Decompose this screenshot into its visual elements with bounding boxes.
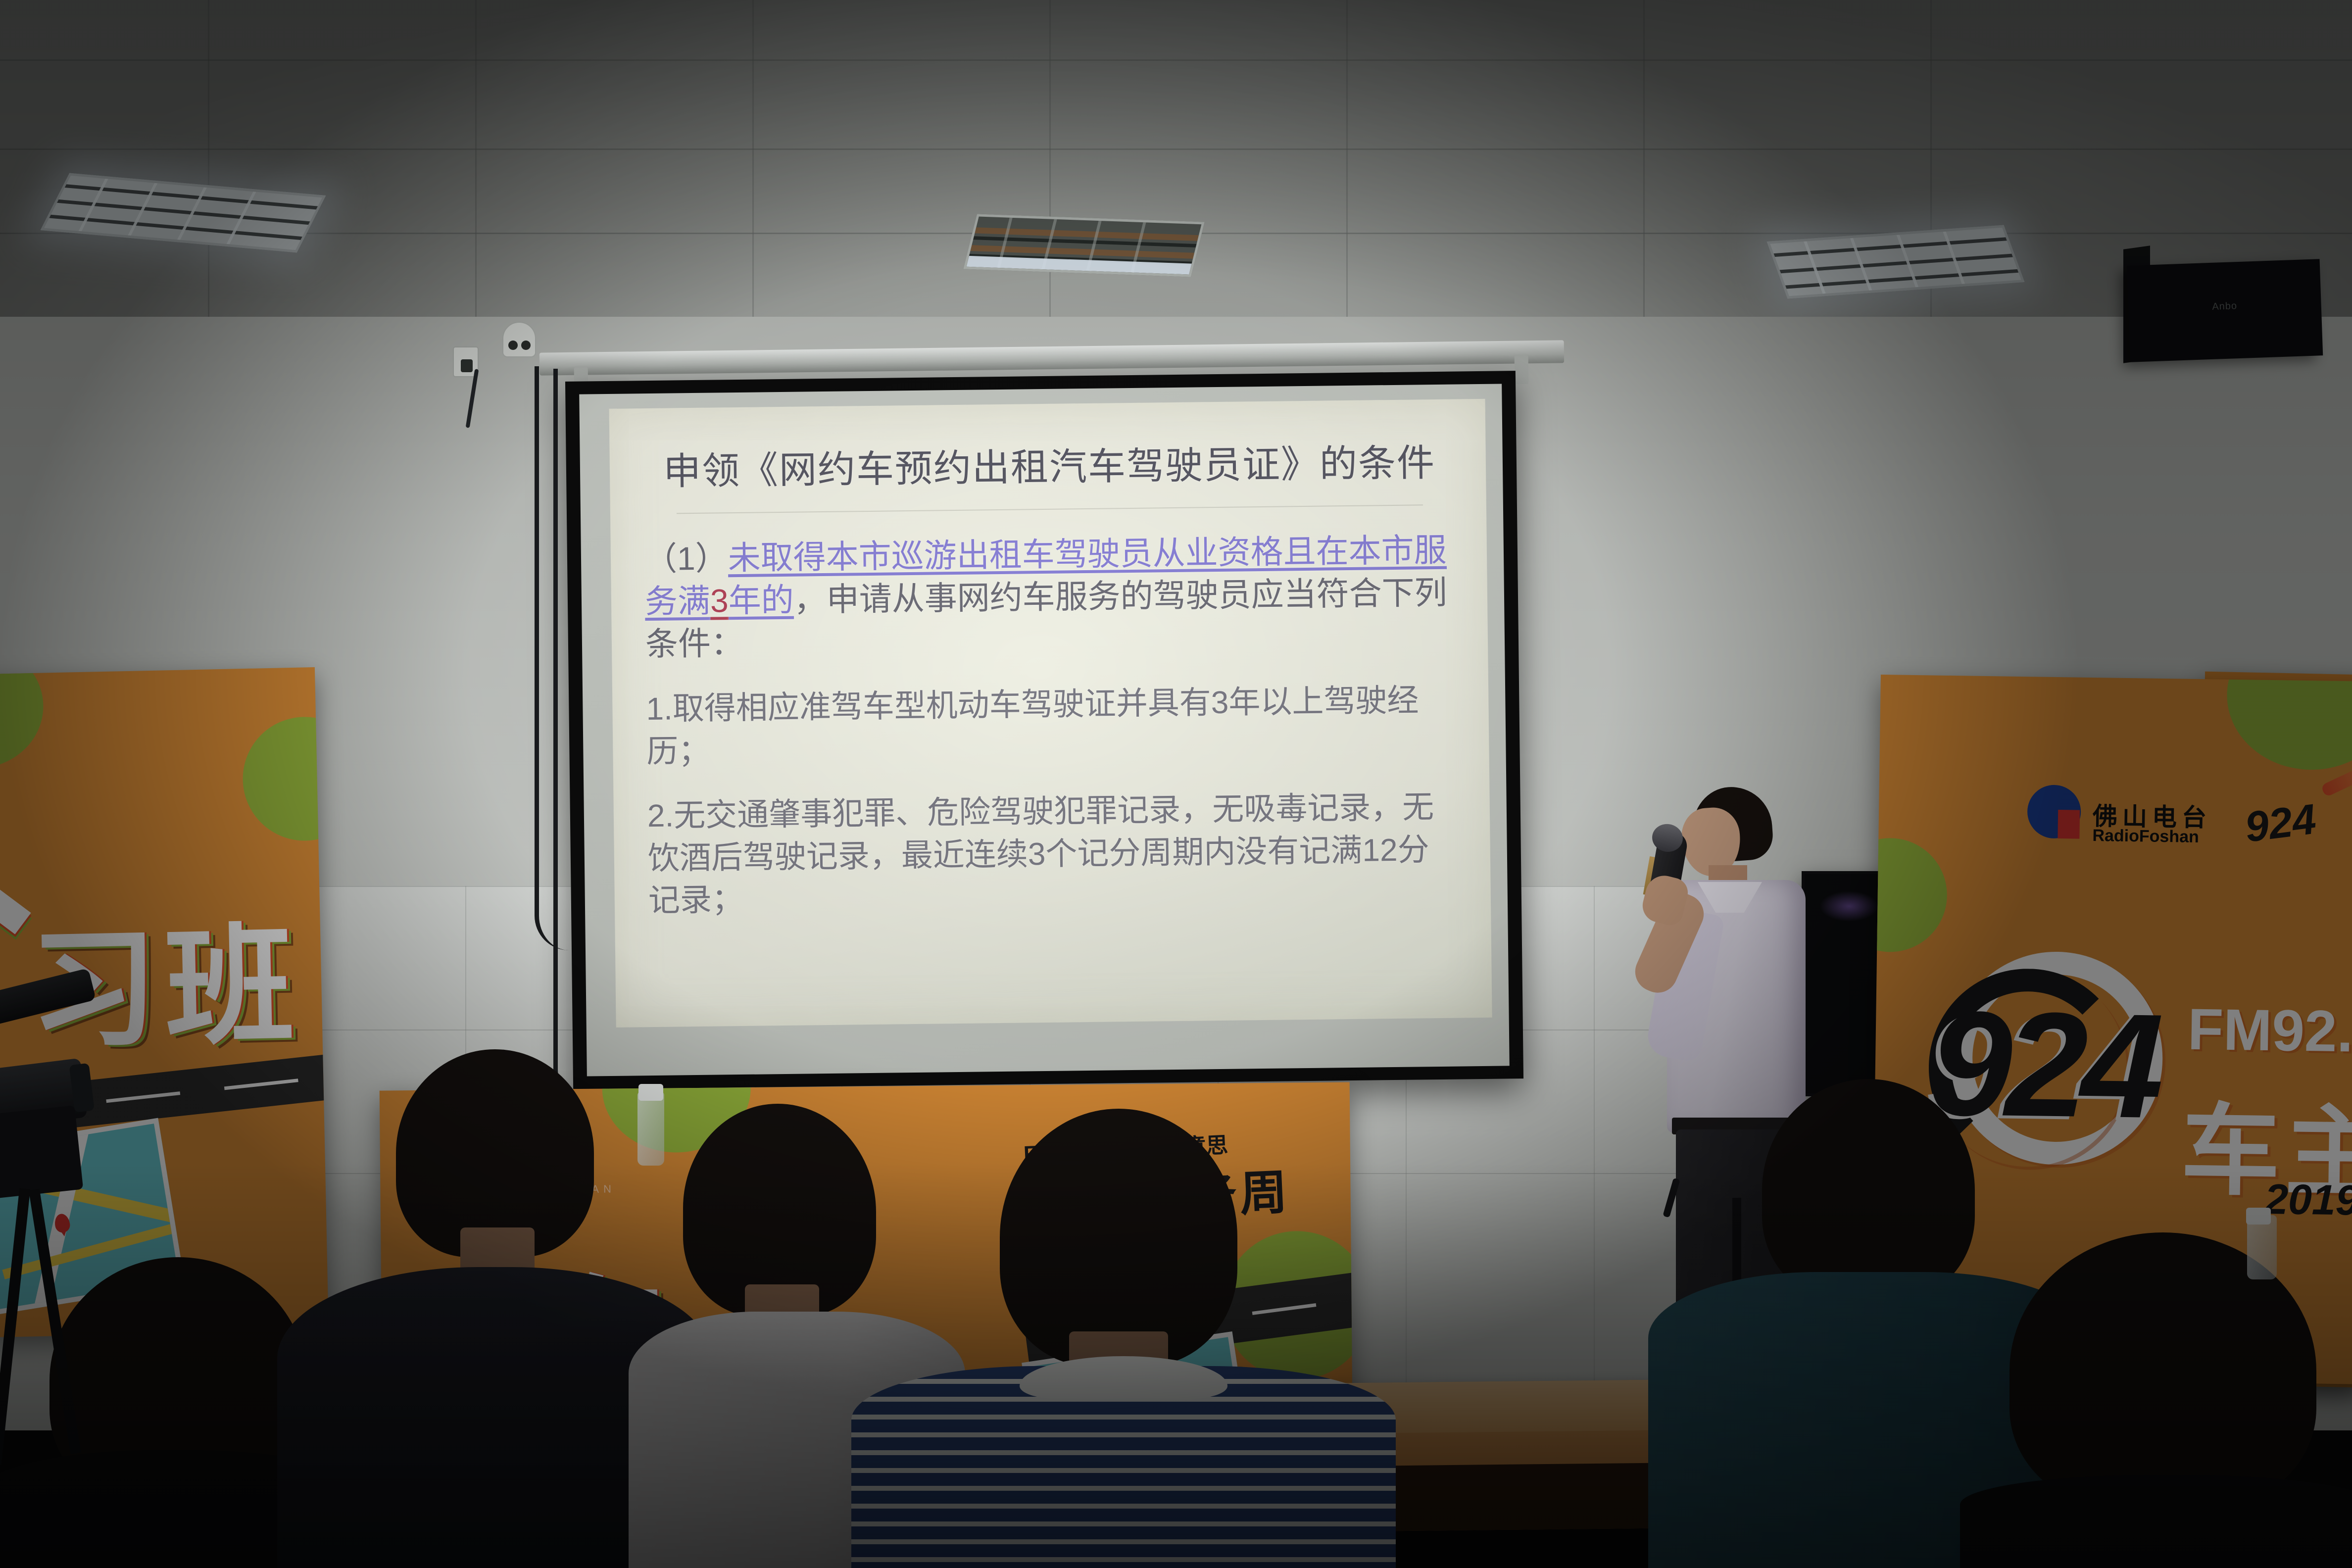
projection-screen: 申领《网约车预约出租汽车驾驶员证》的条件 （1）未取得本市巡游出租车驾驶员从业资… xyxy=(565,371,1523,1089)
slide-list-item-2: 2.无交通肇事犯罪、危险驾驶犯罪记录，无吸毒记录，无饮酒后驾驶记录，最近连续3个… xyxy=(647,785,1460,922)
video-camera-body xyxy=(0,1105,83,1201)
audience-head-right xyxy=(1762,1079,1975,1302)
slide-highlight-number: 3 xyxy=(710,582,729,619)
water-bottle-right xyxy=(2247,1215,2277,1279)
station-name-en: RadioFoshan xyxy=(2092,826,2199,847)
audience-body-far-right xyxy=(1960,1475,2352,1568)
slide-bullet-number: （1） xyxy=(644,539,729,577)
slide-paragraph-1: （1）未取得本市巡游出租车驾驶员从业资格且在本市服务满3年的，申请从事网约车服务… xyxy=(644,529,1458,666)
water-bottle-cap xyxy=(638,1084,663,1101)
slide-title: 申领《网约车预约出租汽车驾驶员证》的条件 xyxy=(643,432,1455,496)
radiofoshan-logo-mark xyxy=(2058,810,2080,839)
small-924-mark: 924 xyxy=(2242,795,2319,852)
projected-slide: 申领《网约车预约出租汽车驾驶员证》的条件 （1）未取得本市巡游出租车驾驶员从业资… xyxy=(609,399,1492,1028)
lecture-hall-scene: 申领《网约车预约出租汽车驾驶员证》的条件 （1）未取得本市巡游出租车驾驶员从业资… xyxy=(0,0,2352,1568)
big-924-logo: 924 xyxy=(1929,977,2158,1151)
wall-speaker: Anbo xyxy=(2127,259,2323,362)
hanging-cable-2 xyxy=(553,369,575,1091)
banner-right-year: 2019 xyxy=(2264,1175,2352,1225)
speaker-brand-label: Anbo xyxy=(2128,297,2321,316)
motion-sensor-icon xyxy=(502,322,536,357)
slide-divider xyxy=(677,504,1423,514)
water-bottle-right-cap xyxy=(2246,1208,2271,1225)
monitor-screen-glow xyxy=(1819,891,1879,922)
audience-head-left xyxy=(396,1049,594,1257)
slide-list-item-1: 1.取得相应准驾车型机动车驾驶证并具有3年以上驾驶经历； xyxy=(646,679,1459,773)
roller-bracket-right xyxy=(1515,355,1529,384)
fm-frequency-label: FM92.4 xyxy=(2187,996,2352,1066)
screen-surface: 申领《网约车预约出租汽车驾驶员证》的条件 （1）未取得本市巡游出租车驾驶员从业资… xyxy=(579,384,1510,1076)
water-bottle-front xyxy=(637,1091,664,1166)
left-banner-stroke xyxy=(0,857,31,934)
ceiling-light-center xyxy=(963,214,1204,277)
slide-highlight-link-tail: 年的 xyxy=(728,582,794,619)
audience-head-center xyxy=(1000,1109,1237,1366)
